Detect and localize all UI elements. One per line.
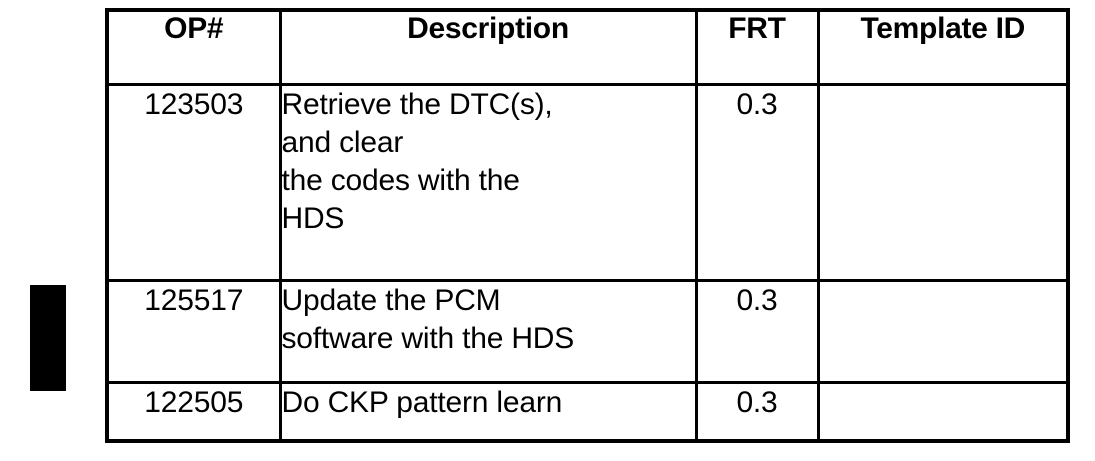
cell-frt: 0.3: [696, 281, 818, 383]
description-line: Update the PCM: [282, 282, 695, 320]
column-header-frt: FRT: [696, 10, 818, 85]
cell-op-number: 125517: [107, 281, 280, 383]
cell-description: Retrieve the DTC(s), and clear the codes…: [280, 85, 696, 281]
description-line: software with the HDS: [282, 320, 695, 358]
cell-description: Do CKP pattern learn: [280, 383, 696, 441]
description-line: and clear: [282, 124, 695, 162]
revision-change-bar: [30, 285, 66, 391]
table-row: 125517 Update the PCM software with the …: [107, 281, 1068, 383]
cell-description: Update the PCM software with the HDS: [280, 281, 696, 383]
table-body: 123503 Retrieve the DTC(s), and clear th…: [107, 85, 1068, 442]
description-line: the codes with the: [282, 162, 695, 200]
column-header-template-id: Template ID: [818, 10, 1068, 85]
cell-frt: 0.3: [696, 383, 818, 441]
column-header-description: Description: [280, 10, 696, 85]
cell-template-id: [818, 281, 1068, 383]
cell-template-id: [818, 383, 1068, 441]
cell-frt: 0.3: [696, 85, 818, 281]
column-header-op: OP#: [107, 10, 280, 85]
cell-op-number: 122505: [107, 383, 280, 441]
cell-template-id: [818, 85, 1068, 281]
table-header: OP# Description FRT Template ID: [107, 10, 1068, 85]
repair-operation-table: OP# Description FRT Template ID 123503 R…: [105, 8, 1070, 443]
description-line: HDS: [282, 200, 695, 238]
table-header-row: OP# Description FRT Template ID: [107, 10, 1068, 85]
description-line: Do CKP pattern learn: [282, 384, 695, 422]
table-row: 122505 Do CKP pattern learn 0.3: [107, 383, 1068, 441]
description-line: Retrieve the DTC(s),: [282, 86, 695, 124]
table-row: 123503 Retrieve the DTC(s), and clear th…: [107, 85, 1068, 281]
cell-op-number: 123503: [107, 85, 280, 281]
